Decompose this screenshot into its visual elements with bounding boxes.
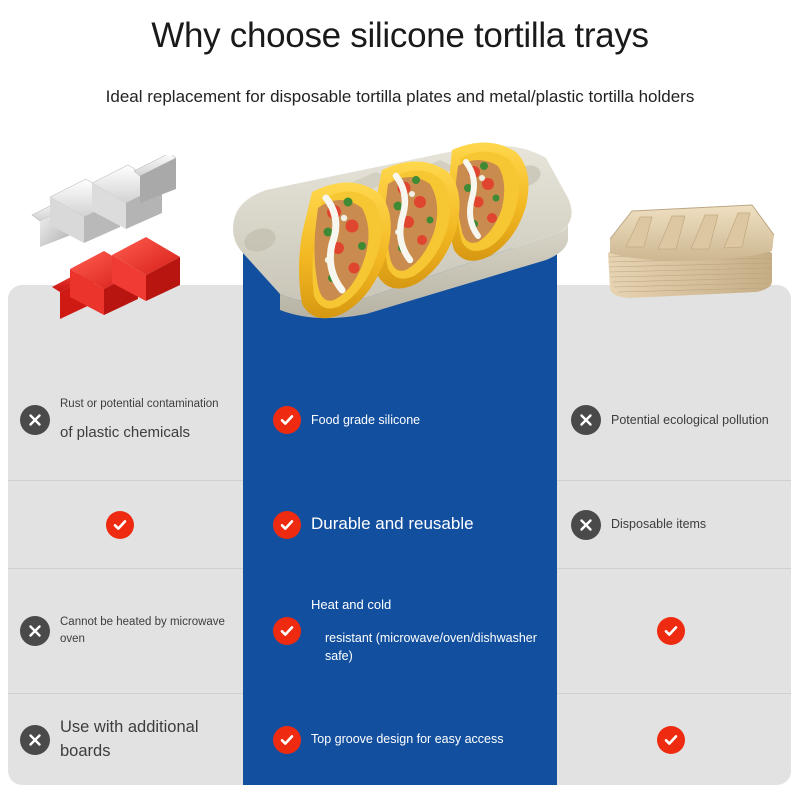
- comparison-cell-middle-row-2-text: Durable and reusable: [311, 512, 474, 537]
- page-subtitle: Ideal replacement for disposable tortill…: [0, 85, 800, 109]
- check-circle-icon: [273, 617, 301, 645]
- comparison-cell-right-row-2-text: Disposable items: [611, 515, 706, 533]
- comparison-cell-middle-row-4: Top groove design for easy access: [243, 694, 557, 785]
- check-circle-icon: [273, 511, 301, 539]
- check-circle-icon: [106, 511, 134, 539]
- x-circle-icon: [20, 405, 50, 435]
- infographic-canvas: Why choose silicone tortilla trays Ideal…: [0, 0, 800, 800]
- product-image-metal-plastic-holders: [20, 155, 235, 335]
- comparison-cell-middle-row-3: Heat and cold resistant (microwave/oven/…: [243, 569, 557, 693]
- comparison-cell-middle-row-2: Durable and reusable: [243, 481, 557, 568]
- check-circle-icon: [657, 617, 685, 645]
- comparison-cell-left-row-1: Rust or potential contamination of plast…: [8, 360, 243, 480]
- comparison-cell-left-row-4-text: Use with additional boards: [60, 716, 243, 764]
- check-circle-icon: [273, 406, 301, 434]
- comparison-cell-left-row-1-text: Rust or potential contamination of plast…: [60, 396, 219, 443]
- comparison-cell-middle-row-3-text: Heat and cold resistant (microwave/oven/…: [311, 596, 557, 665]
- x-circle-icon: [571, 510, 601, 540]
- comparison-cell-right-row-4: [557, 694, 791, 785]
- comparison-cell-right-row-1: Potential ecological pollution: [557, 360, 791, 480]
- x-circle-icon: [20, 725, 50, 755]
- comparison-cell-middle-row-1-text: Food grade silicone: [311, 411, 420, 429]
- comparison-cell-left-row-3: Cannot be heated by microwave oven: [8, 569, 243, 693]
- comparison-cell-middle-row-1: Food grade silicone: [243, 360, 557, 480]
- comparison-cell-left-row-3-text: Cannot be heated by microwave oven: [60, 614, 243, 647]
- product-image-disposable-trays: [596, 195, 786, 313]
- comparison-cell-middle-row-4-text: Top groove design for easy access: [311, 730, 503, 748]
- check-circle-icon: [273, 726, 301, 754]
- comparison-cell-left-row-4: Use with additional boards: [8, 694, 243, 785]
- product-image-silicone-tray: [216, 128, 590, 338]
- check-circle-icon: [657, 726, 685, 754]
- comparison-cell-right-row-1-text: Potential ecological pollution: [611, 411, 769, 429]
- comparison-cell-right-row-2: Disposable items: [557, 481, 791, 568]
- comparison-cell-left-row-2: [8, 481, 243, 568]
- comparison-cell-right-row-3: [557, 569, 791, 693]
- page-title: Why choose silicone tortilla trays: [0, 14, 800, 58]
- x-circle-icon: [571, 405, 601, 435]
- x-circle-icon: [20, 616, 50, 646]
